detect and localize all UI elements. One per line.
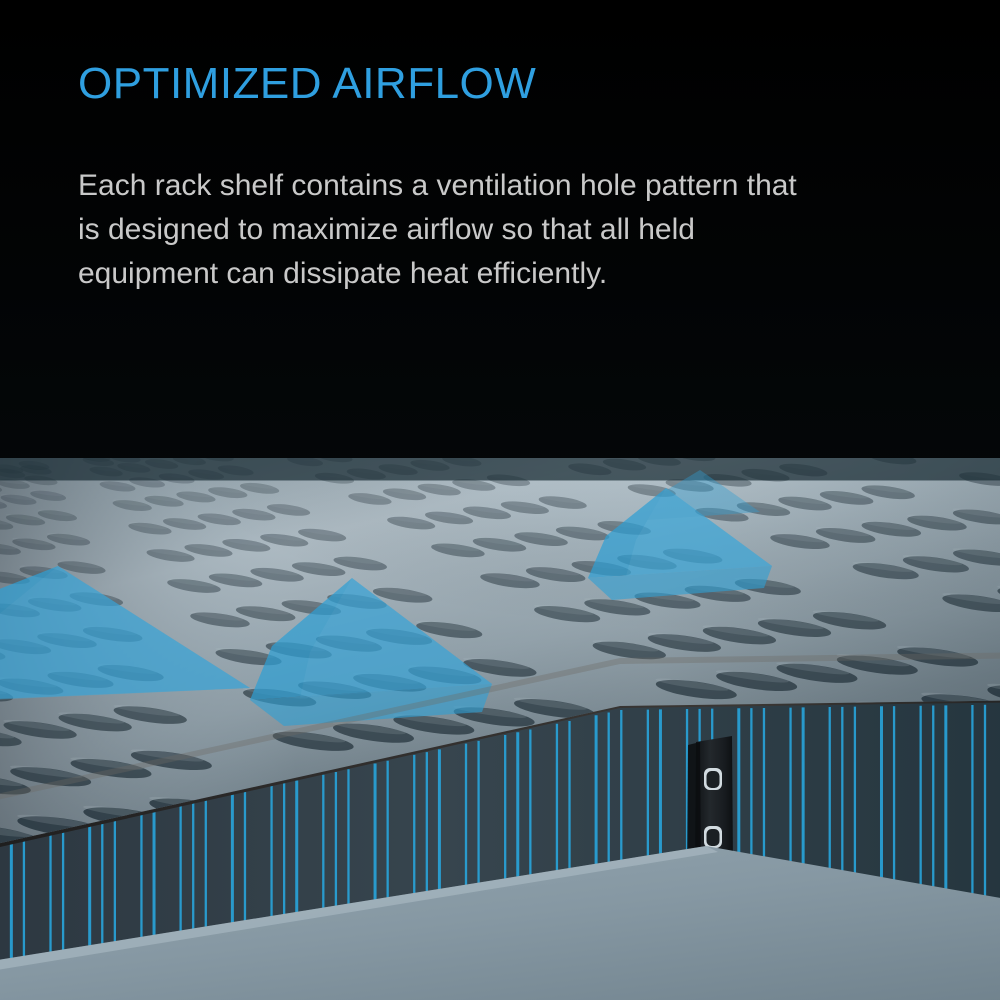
promo-card: OPTIMIZED AIRFLOW Each rack shelf contai…	[0, 0, 1000, 1000]
body-line-2: is designed to maximize airflow so that …	[78, 208, 958, 252]
page-title: OPTIMIZED AIRFLOW	[78, 62, 958, 106]
body-paragraph: Each rack shelf contains a ventilation h…	[78, 164, 958, 296]
body-line-1: Each rack shelf contains a ventilation h…	[78, 164, 958, 208]
copy-block: OPTIMIZED AIRFLOW Each rack shelf contai…	[78, 62, 958, 296]
body-line-3: equipment can dissipate heat efficiently…	[78, 252, 958, 296]
